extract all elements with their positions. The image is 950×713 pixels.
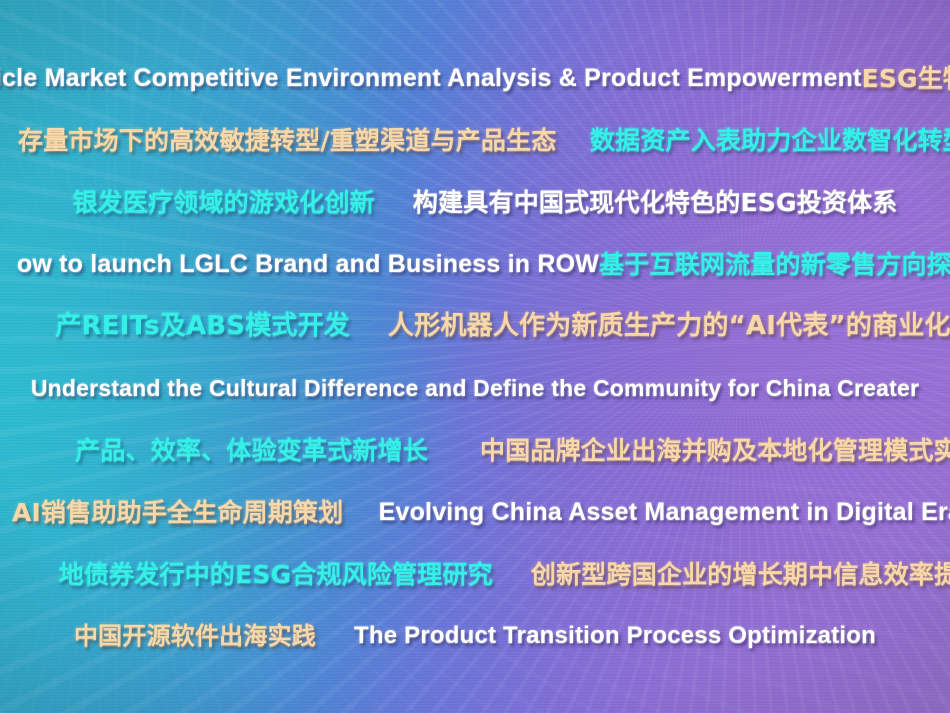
topic-label[interactable]: 中国品牌企业出海并购及本地化管理模式实 [480,438,950,463]
topic-rows-container: y Vehicle Market Competitive Environment… [0,0,950,713]
topic-label[interactable]: 存量市场下的高效敏捷转型/重塑渠道与产品生态 [18,128,557,153]
topic-row: 地债券发行中的ESG合规风险管理研究 创新型跨国企业的增长期中信息效率提 [34,543,950,605]
topic-label[interactable]: 产品、效率、体验变革式新增长 [75,438,428,463]
topic-label[interactable]: 数据资产入表助力企业数智化转型 [590,128,950,153]
topic-row: y Vehicle Market Competitive Environment… [0,47,936,109]
topic-label[interactable]: y Vehicle Market Competitive Environment… [0,66,862,91]
topic-label[interactable]: AI销售助助手全生命周期策划 [12,500,343,525]
topic-label[interactable]: 产REITs及ABS模式开发 [55,313,350,339]
topic-label[interactable]: ow to launch LGLC Brand and Business in … [17,252,599,277]
topic-row: Understand the Cultural Difference and D… [0,357,950,419]
topic-label[interactable]: 创新型跨国企业的增长期中信息效率提 [531,562,950,587]
topic-row: 银发医疗领域的游戏化创新 构建具有中国式现代化特色的ESG投资体系 [10,171,950,233]
topic-row: AI销售助助手全生命周期策划 Evolving China Asset Mana… [12,481,950,543]
topic-row: 存量市场下的高效敏捷转型/重塑渠道与产品生态 数据资产入表助力企业数智化转型 [18,109,950,171]
topic-label[interactable]: 中国开源软件出海实践 [74,624,316,648]
topic-row: 产品、效率、体验变革式新增长 中国品牌企业出海并购及本地化管理模式实 [42,419,950,481]
topic-row: 产REITs及ABS模式开发 人形机器人作为新质生产力的“AI代表”的商业化 [28,295,950,357]
topic-label[interactable]: Understand the Cultural Difference and D… [31,377,919,400]
topic-row: ow to launch LGLC Brand and Business in … [22,233,950,295]
topic-label[interactable]: 地债券发行中的ESG合规风险管理研究 [59,562,493,587]
topic-label[interactable]: 构建具有中国式现代化特色的ESG投资体系 [413,190,898,215]
topic-label[interactable]: 基于互联网流量的新零售方向探索 [599,252,950,277]
topic-wall-canvas: y Vehicle Market Competitive Environment… [0,0,950,713]
topic-label[interactable]: The Product Transition Process Optimizat… [354,624,876,648]
topic-label[interactable]: 人形机器人作为新质生产力的“AI代表”的商业化 [388,313,950,339]
topic-row: 中国开源软件出海实践 The Product Transition Proces… [0,605,950,667]
topic-label[interactable]: Evolving China Asset Management in Digit… [379,500,950,525]
topic-label[interactable]: 银发医疗领域的游戏化创新 [72,190,374,215]
topic-label[interactable]: ESG生物傷 [862,66,950,91]
